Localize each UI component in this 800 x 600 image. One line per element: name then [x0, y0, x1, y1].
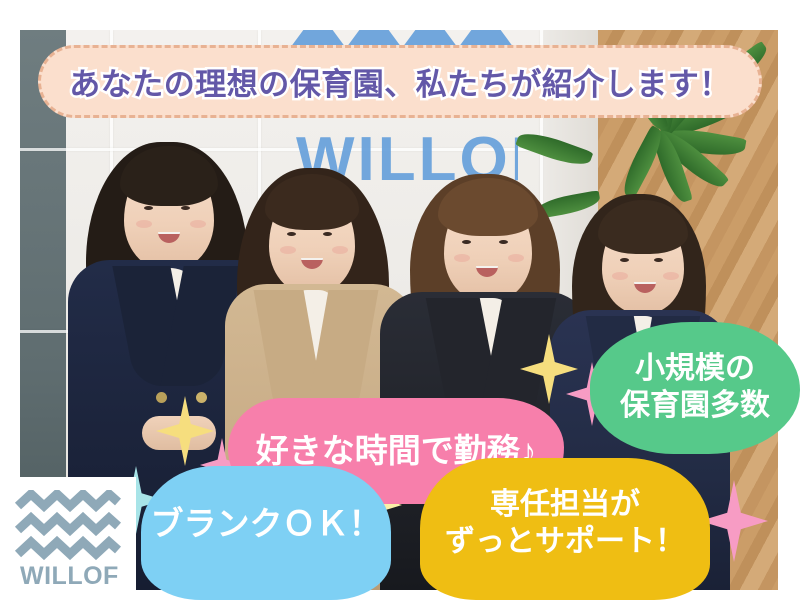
ad-banner-root: WILLOF	[0, 0, 800, 600]
badge-line: 小規模の	[635, 351, 755, 388]
badge-line: 保育園多数	[620, 388, 770, 425]
willof-logo-wordmark: WILLOF	[20, 562, 119, 588]
willof-logo-mark: WILLOF	[14, 490, 122, 588]
badge-small-nursery: 小規模の 保育園多数	[590, 322, 800, 454]
badge-blank-ok: ブランクＯＫ！	[141, 466, 391, 600]
willof-logo: WILLOF	[0, 477, 136, 600]
badge-line: 専任担当が	[490, 487, 640, 524]
badge-line: ずっとサポート！	[445, 524, 685, 561]
badge-line: ブランクＯＫ！	[151, 504, 382, 544]
headline-banner: あなたの理想の保育園、私たちが紹介します！	[38, 45, 762, 118]
badge-dedicated-support: 専任担当が ずっとサポート！	[420, 458, 710, 600]
headline-text: あなたの理想の保育園、私たちが紹介します！	[69, 59, 731, 104]
